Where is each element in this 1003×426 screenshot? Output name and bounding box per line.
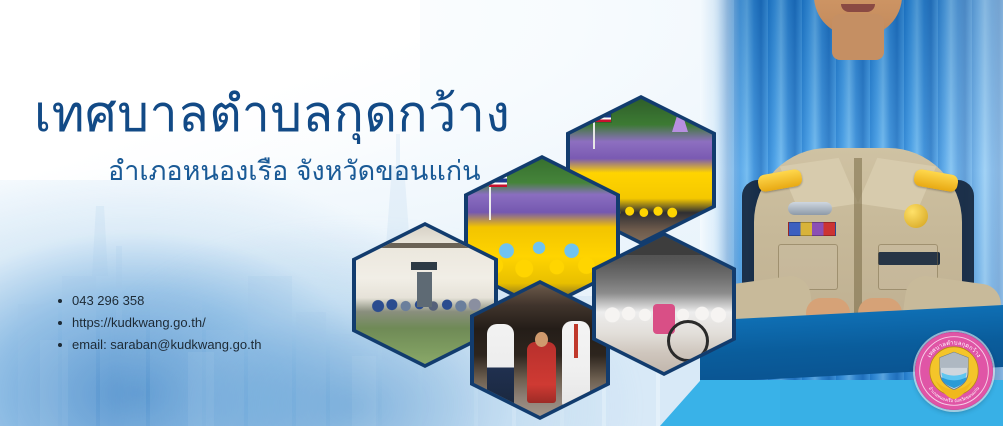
uniform-placket [854, 158, 862, 326]
person-in-wheelchair [527, 342, 556, 403]
contact-item-phone[interactable]: 043 296 358 [56, 290, 262, 312]
official-portrait [748, 30, 968, 330]
person-white-jacket-right [562, 321, 590, 405]
gold-badge-icon [904, 204, 928, 228]
person-white-jacket-left [487, 324, 513, 406]
page-title: เทศบาลตำบลกุดกว้าง [34, 88, 510, 141]
portrait-mouth [841, 4, 875, 12]
contact-item-website[interactable]: https://kudkwang.go.th/ [56, 312, 262, 334]
uniform-shirt [754, 148, 962, 330]
municipality-banner: เทศบาลตำบลกุดกว้าง อำเภอหนองเรือ จังหวัด… [0, 0, 1003, 426]
service-ribbon-bar [788, 222, 836, 236]
wheelchair-person-head [535, 332, 548, 348]
contact-list: 043 296 358 https://kudkwang.go.th/ emai… [56, 290, 262, 356]
page-subtitle: อำเภอหนองเรือ จังหวัดขอนแก่น [108, 156, 481, 187]
wing-insignia [788, 202, 832, 215]
portrait-neck [832, 14, 884, 60]
portrait-panel: เทศบาลตำบลกุดกว้าง อำเภอหนองเรือ จังหวัด… [700, 0, 1003, 426]
wheelchair-wheel-icon [667, 320, 709, 362]
contact-item-email[interactable]: email: saraban@kudkwang.go.th [56, 334, 262, 356]
building-door [417, 272, 432, 308]
municipality-seal: เทศบาลตำบลกุดกว้าง อำเภอหนองเรือ จังหวัด… [915, 332, 993, 410]
building-sign [411, 262, 437, 270]
